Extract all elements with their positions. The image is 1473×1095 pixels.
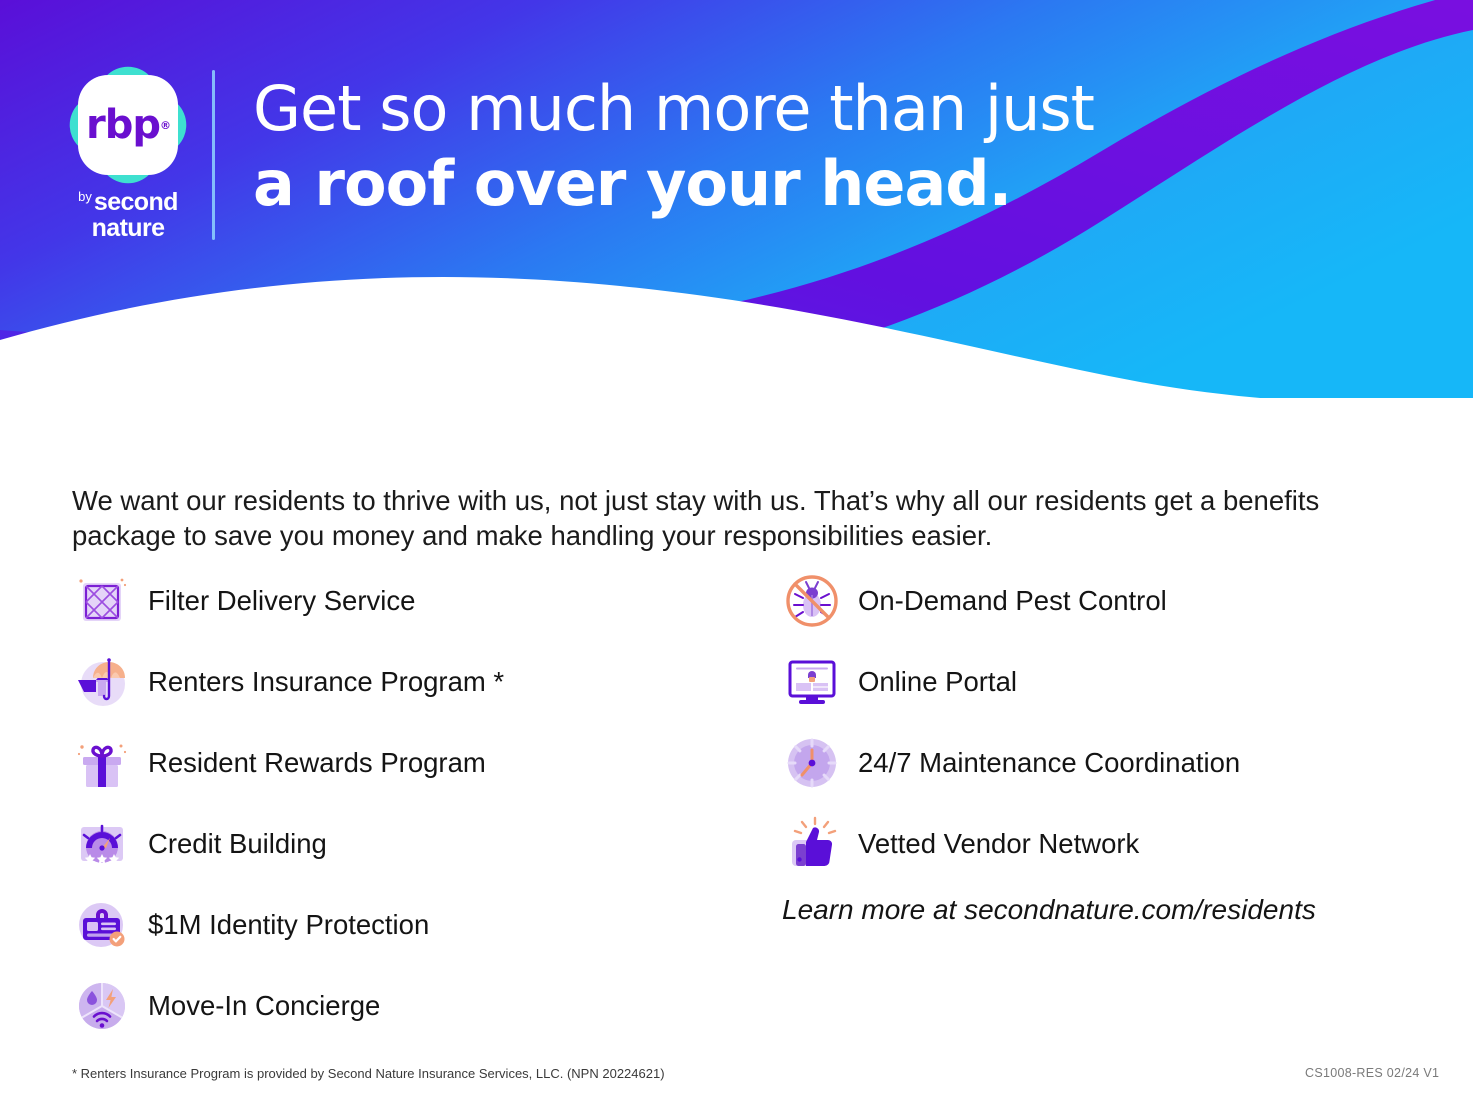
logo-byline-by: by <box>78 190 92 203</box>
headline-line-1: Get so much more than just <box>253 78 1094 140</box>
logo-byline-nature: nature <box>58 216 198 242</box>
benefits-column-left: Filter Delivery Service Re <box>72 560 772 1046</box>
benefit-item-move-in-concierge: Move-In Concierge <box>72 965 772 1046</box>
rbp-logo: rbp® bysecond nature <box>58 66 198 241</box>
benefit-label: $1M Identity Protection <box>148 911 429 939</box>
benefit-label: 24/7 Maintenance Coordination <box>858 749 1240 777</box>
hero-headline: Get so much more than just a roof over y… <box>253 78 1094 215</box>
benefit-label: On-Demand Pest Control <box>858 587 1167 615</box>
benefit-item-vetted-vendors: Vetted Vendor Network <box>782 803 1422 884</box>
benefit-label: Filter Delivery Service <box>148 587 415 615</box>
rbp-logo-mark: rbp® <box>69 66 187 184</box>
learn-more-link[interactable]: Learn more at secondnature.com/residents <box>782 894 1316 926</box>
benefit-label: Online Portal <box>858 668 1017 696</box>
gift-box-icon <box>72 733 132 793</box>
headline-line-2: a roof over your head. <box>253 153 1094 215</box>
umbrella-icon <box>72 652 132 712</box>
benefit-label: Renters Insurance Program * <box>148 668 504 696</box>
benefit-item-renters-insurance: Renters Insurance Program * <box>72 641 772 722</box>
logo-byline: bysecond nature <box>58 190 198 241</box>
logo-wordmark: rbp® <box>69 66 187 184</box>
benefit-item-resident-rewards: Resident Rewards Program <box>72 722 772 803</box>
utilities-circle-icon <box>72 976 132 1036</box>
benefit-item-pest-control: On-Demand Pest Control <box>782 560 1422 641</box>
benefit-item-online-portal: Online Portal <box>782 641 1422 722</box>
benefit-label: Resident Rewards Program <box>148 749 486 777</box>
clock-icon <box>782 733 842 793</box>
benefit-label: Credit Building <box>148 830 327 858</box>
benefit-item-credit-building: Credit Building <box>72 803 772 884</box>
rbp-benefits-flyer: rbp® bysecond nature Get so much more th… <box>0 0 1473 1095</box>
air-filter-icon <box>72 571 132 631</box>
no-bug-icon <box>782 571 842 631</box>
benefits-column-right: On-Demand Pest Control <box>782 560 1422 884</box>
thumbs-up-icon <box>782 814 842 874</box>
benefit-label: Vetted Vendor Network <box>858 830 1139 858</box>
id-badge-check-icon <box>72 895 132 955</box>
hero-banner: rbp® bysecond nature Get so much more th… <box>0 0 1473 400</box>
monitor-icon <box>782 652 842 712</box>
logo-registered-mark: ® <box>160 119 170 132</box>
benefit-item-maintenance: 24/7 Maintenance Coordination <box>782 722 1422 803</box>
logo-byline-second: second <box>94 190 178 216</box>
benefit-item-identity-protection: $1M Identity Protection <box>72 884 772 965</box>
logo-wordmark-text: rbp <box>86 102 160 148</box>
credit-gauge-icon <box>72 814 132 874</box>
document-code: CS1008-RES 02/24 V1 <box>1305 1066 1439 1080</box>
benefit-item-filter-delivery: Filter Delivery Service <box>72 560 772 641</box>
benefit-label: Move-In Concierge <box>148 992 380 1020</box>
intro-paragraph: We want our residents to thrive with us,… <box>72 483 1372 555</box>
footnote-disclaimer: * Renters Insurance Program is provided … <box>72 1066 665 1081</box>
hero-divider <box>212 70 215 240</box>
